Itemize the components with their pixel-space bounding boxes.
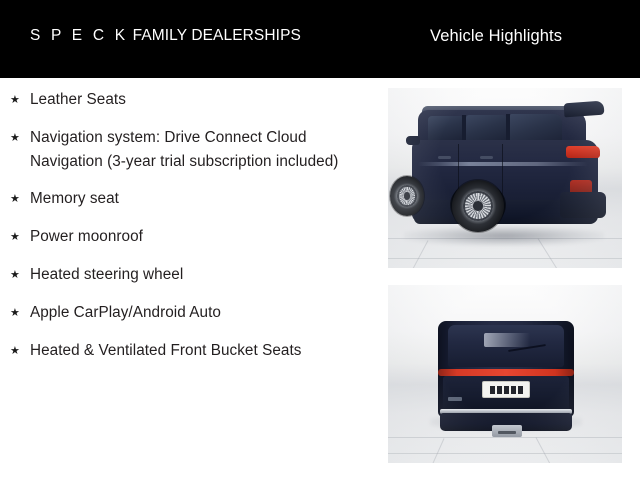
star-icon: ★ (8, 126, 30, 150)
plate-character (504, 386, 509, 394)
glass-reflection (484, 333, 530, 347)
list-item: ★ Power moonroof (0, 225, 380, 249)
brand-rest-text: FAMILY DEALERSHIPS (133, 27, 301, 44)
list-item-label: Memory seat (30, 187, 380, 211)
wheel-center-cap (404, 192, 410, 199)
header-bar: S P E C K FAMILY DEALERSHIPS Vehicle Hig… (0, 0, 640, 78)
suv-straight-rear-illustration (388, 285, 622, 463)
rear-bumper (560, 192, 606, 218)
list-item: ★ Memory seat (0, 187, 380, 211)
model-badge (448, 397, 462, 401)
brand-mark-text: S P E C K (30, 27, 128, 44)
wheel-center-cap (473, 201, 482, 210)
star-icon: ★ (8, 301, 30, 325)
plate-character (511, 386, 516, 394)
vehicle-feature-list: ★ Leather Seats ★ Navigation system: Dri… (0, 88, 380, 480)
list-item-label: Navigation system: Drive Connect Cloud N… (30, 126, 380, 173)
list-item: ★ Heated steering wheel (0, 263, 380, 287)
side-mirror (406, 136, 420, 145)
plate-character (490, 386, 495, 394)
star-icon: ★ (8, 88, 30, 112)
door-handle (438, 156, 451, 159)
list-item-label: Apple CarPlay/Android Auto (30, 301, 380, 325)
vehicle-photo-straight-rear (388, 285, 622, 463)
star-icon: ★ (8, 225, 30, 249)
list-item: ★ Apple CarPlay/Android Auto (0, 301, 380, 325)
rear-wheel (452, 180, 504, 232)
vehicle-shadow (404, 226, 604, 246)
list-item: ★ Heated & Ventilated Front Bucket Seats (0, 339, 380, 363)
list-item: ★ Leather Seats (0, 88, 380, 112)
plate-character (497, 386, 502, 394)
plate-character (518, 386, 523, 394)
body-highlight (418, 162, 588, 166)
star-icon: ★ (8, 339, 30, 363)
front-wheel (390, 176, 424, 216)
taillight (566, 146, 600, 158)
star-icon: ★ (8, 187, 30, 211)
suv-rear-quarter-illustration (388, 88, 622, 268)
license-plate (482, 381, 530, 398)
list-item-label: Heated steering wheel (30, 263, 380, 287)
door-handle (480, 156, 493, 159)
list-item-label: Leather Seats (30, 88, 380, 112)
star-icon: ★ (8, 263, 30, 287)
list-item-label: Power moonroof (30, 225, 380, 249)
list-item: ★ Navigation system: Drive Connect Cloud… (0, 126, 380, 173)
vehicle-photo-rear-quarter (388, 88, 622, 268)
tow-hitch-slot (498, 431, 516, 434)
slide-heading: Vehicle Highlights (430, 27, 562, 45)
door-shut-line (502, 144, 503, 200)
dealership-brand-title: S P E C K FAMILY DEALERSHIPS (30, 27, 301, 45)
roof-spoiler (564, 101, 605, 118)
list-item-label: Heated & Ventilated Front Bucket Seats (30, 339, 380, 363)
rear-light-bar (438, 369, 574, 376)
